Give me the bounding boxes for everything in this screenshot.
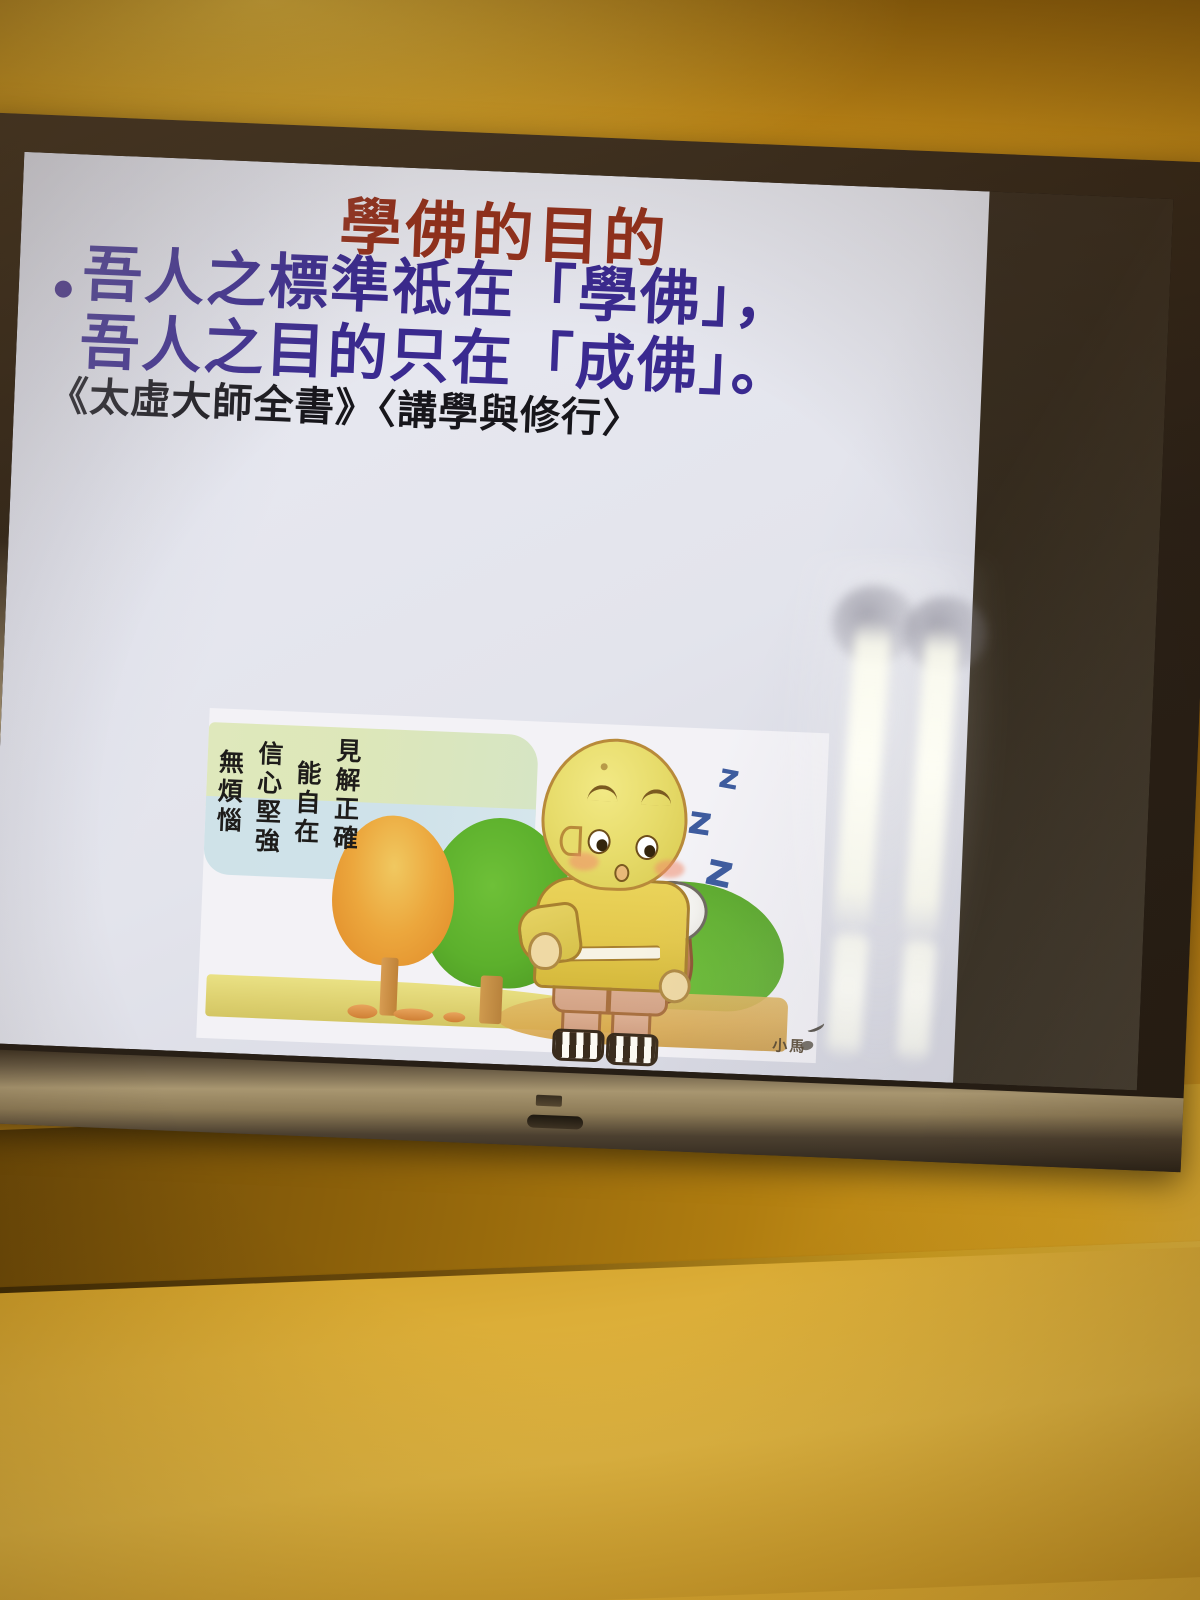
child-cheek-right [654,859,685,878]
child-eye-left [587,829,611,855]
wall-mounted-television: 學佛的目的 吾人之標準祗在「學佛」， 吾人之目的只在「成佛」。 《太虛大師全書》… [0,112,1200,1172]
child-mouth [614,864,630,883]
child-right-shoe [605,1033,658,1067]
child-left-hand [527,931,563,970]
pupil [644,845,655,857]
head-highlight-dot [601,763,608,770]
orange-tree-trunk [379,957,398,1016]
caption-column-2: 能自在 [290,759,322,858]
green-tree-trunk [479,975,503,1024]
caption-column-4: 無煩惱 [212,748,244,855]
child-cheek-left [568,852,599,871]
cartoon-child-figure: z z z [507,735,737,1044]
child-eyebrow-left [587,785,618,802]
caption-column-3: 信心堅強 [251,740,284,857]
sleep-z-icon: z [685,797,715,846]
tv-ir-sensor [527,1114,583,1129]
tv-screen: 學佛的目的 吾人之標準祗在「學佛」， 吾人之目的只在「成佛」。 《太虛大師全書》… [0,152,1173,1090]
child-eye-right [635,835,659,861]
child-head [539,736,691,894]
wall-lower-band [0,1246,1200,1600]
pupil [596,839,607,851]
sleep-z-icon: z [716,756,743,799]
child-left-shoe [552,1028,605,1062]
child-eyebrow-right [641,789,672,806]
vertical-caption-columns: 見解正確 能自在 信心堅強 無煩惱 [212,726,362,860]
sleep-z-icon: z [701,841,739,899]
child-right-hand [658,969,691,1004]
bullet-dot-icon [54,281,72,299]
photo-scene: 學佛的目的 吾人之標準祗在「學佛」， 吾人之目的只在「成佛」。 《太虛大師全書》… [0,0,1200,1600]
caption-column-1: 見解正確 [329,737,362,860]
tv-brand-logo [536,1095,562,1107]
slide-illustration: 見解正確 能自在 信心堅強 無煩惱 z z z [196,708,829,1063]
